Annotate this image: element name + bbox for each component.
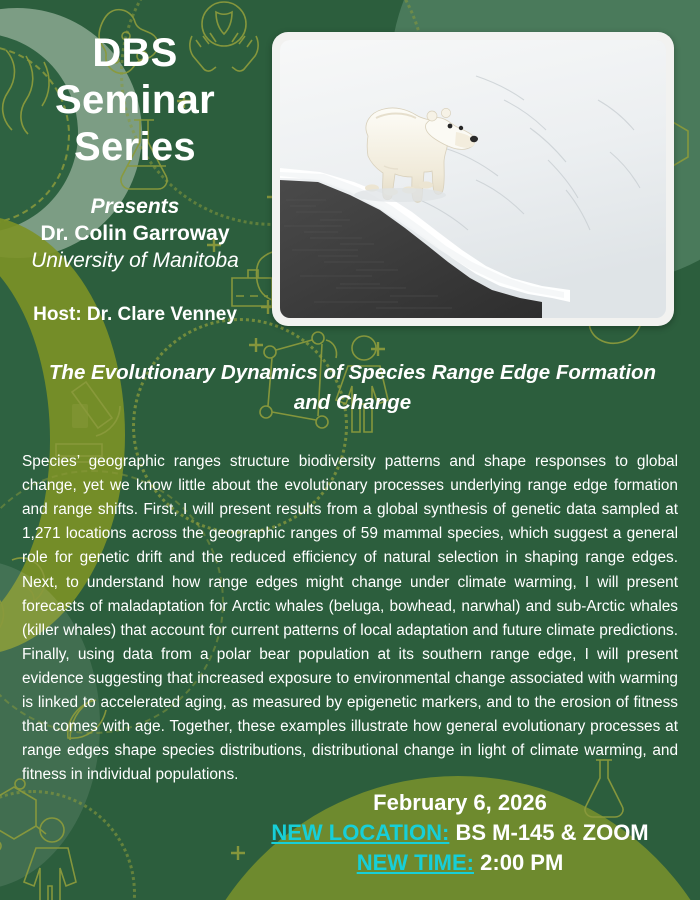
host-label: Host: Dr. Clare Venney [0,304,270,326]
presents-label: Presents [0,194,270,220]
event-location-line: NEW LOCATION: BS M-145 & ZOOM [240,818,680,849]
speaker-name: Dr. Colin Garroway [0,220,270,247]
polar-bear-illustration [280,40,666,318]
talk-title: The Evolutionary Dynamics of Species Ran… [30,358,675,417]
speaker-affiliation: University of Manitoba [0,247,270,274]
talk-abstract: Species’ geographic ranges structure bio… [22,450,678,788]
decorative-dotted-ring-bottom-left [0,790,136,900]
seminar-poster: DBS Seminar Series Presents Dr. Colin Ga… [0,0,700,900]
new-location-label: NEW LOCATION: [271,820,449,845]
new-time-label: NEW TIME: [357,850,474,875]
poster-header: DBS Seminar Series Presents Dr. Colin Ga… [0,30,270,326]
event-date: February 6, 2026 [240,788,680,818]
polar-bear-photo-frame [272,32,674,326]
series-title-line-1: DBS [0,30,270,77]
series-title-line-2: Seminar [0,77,270,124]
event-location-value: BS M-145 & ZOOM [456,820,649,845]
human-figure-icon-bottom [24,818,76,900]
event-time-line: NEW TIME: 2:00 PM [240,848,680,879]
event-details: February 6, 2026 NEW LOCATION: BS M-145 … [240,788,680,879]
series-title-line-3: Series [0,124,270,171]
series-title: DBS Seminar Series [0,30,270,172]
hexagon-icon-bottom-left [0,779,46,851]
event-time-value: 2:00 PM [480,850,563,875]
polar-bear-photo [280,40,666,318]
